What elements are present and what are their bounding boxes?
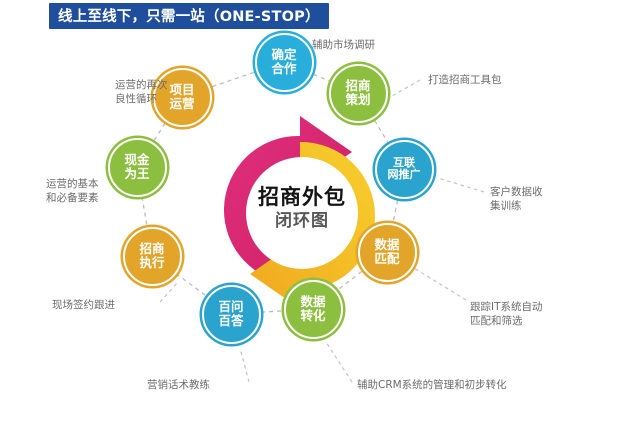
node-label: 数据 转化	[300, 295, 325, 323]
annotation-customer-data: 客户数据收 集训练	[490, 185, 585, 213]
node-label: 互联 网推广	[388, 157, 421, 182]
annotation-text: 现场签约跟进	[52, 299, 115, 311]
annotation-text: 运营的再次 良性循环	[115, 79, 168, 105]
annotation-toolkit: 打造招商工具包	[428, 73, 548, 87]
node-zhaoshang-zhixing[interactable]: 招商 执行	[123, 227, 182, 286]
center-subtitle: 闭环图	[232, 211, 372, 232]
annotation-text: 运营的基本 和必备要素	[46, 178, 99, 204]
annotation-onsite-signing: 现场签约跟进	[52, 298, 157, 312]
center-title: 招商外包	[232, 186, 372, 209]
annotation-virtuous-cycle: 运营的再次 良性循环	[115, 78, 205, 106]
annotation-operation-basics: 运营的基本 和必备要素	[46, 177, 141, 205]
annotation-text: 营销话术教练	[147, 379, 210, 391]
annotation-text: 客户数据收 集训练	[490, 186, 543, 212]
annotation-market-research: 辅助市场调研	[312, 38, 422, 52]
node-baiwen-baida[interactable]: 百问 百答	[202, 285, 261, 344]
center-label: 招商外包 闭环图	[232, 186, 372, 232]
annotation-text: 辅助CRM系统的管理和初步转化	[357, 379, 507, 391]
node-label: 数据 匹配	[374, 238, 399, 266]
node-label: 百问 百答	[218, 300, 243, 328]
node-queding-hezuo[interactable]: 确定 合作	[255, 33, 314, 92]
annotation-crm: 辅助CRM系统的管理和初步转化	[357, 378, 562, 392]
annotation-sales-script: 营销话术教练	[147, 378, 252, 392]
node-label: 确定 合作	[271, 48, 296, 76]
node-shuju-zhuanhua[interactable]: 数据 转化	[284, 280, 343, 339]
node-label: 招商 执行	[139, 242, 164, 270]
diagram-canvas: 线上至线下，只需一站（ONE-STOP）	[0, 0, 640, 423]
annotation-it-tracking: 跟踪IT系统自动 匹配和筛选	[470, 300, 580, 328]
annotation-text: 跟踪IT系统自动 匹配和筛选	[470, 301, 543, 327]
node-zhaoshang-cehua[interactable]: 招商 策划	[329, 64, 388, 123]
annotation-text: 辅助市场调研	[312, 39, 375, 51]
annotation-text: 打造招商工具包	[428, 74, 502, 86]
node-hulianwang-tuiguang[interactable]: 互联 网推广	[375, 140, 434, 199]
node-label: 招商 策划	[345, 79, 370, 107]
